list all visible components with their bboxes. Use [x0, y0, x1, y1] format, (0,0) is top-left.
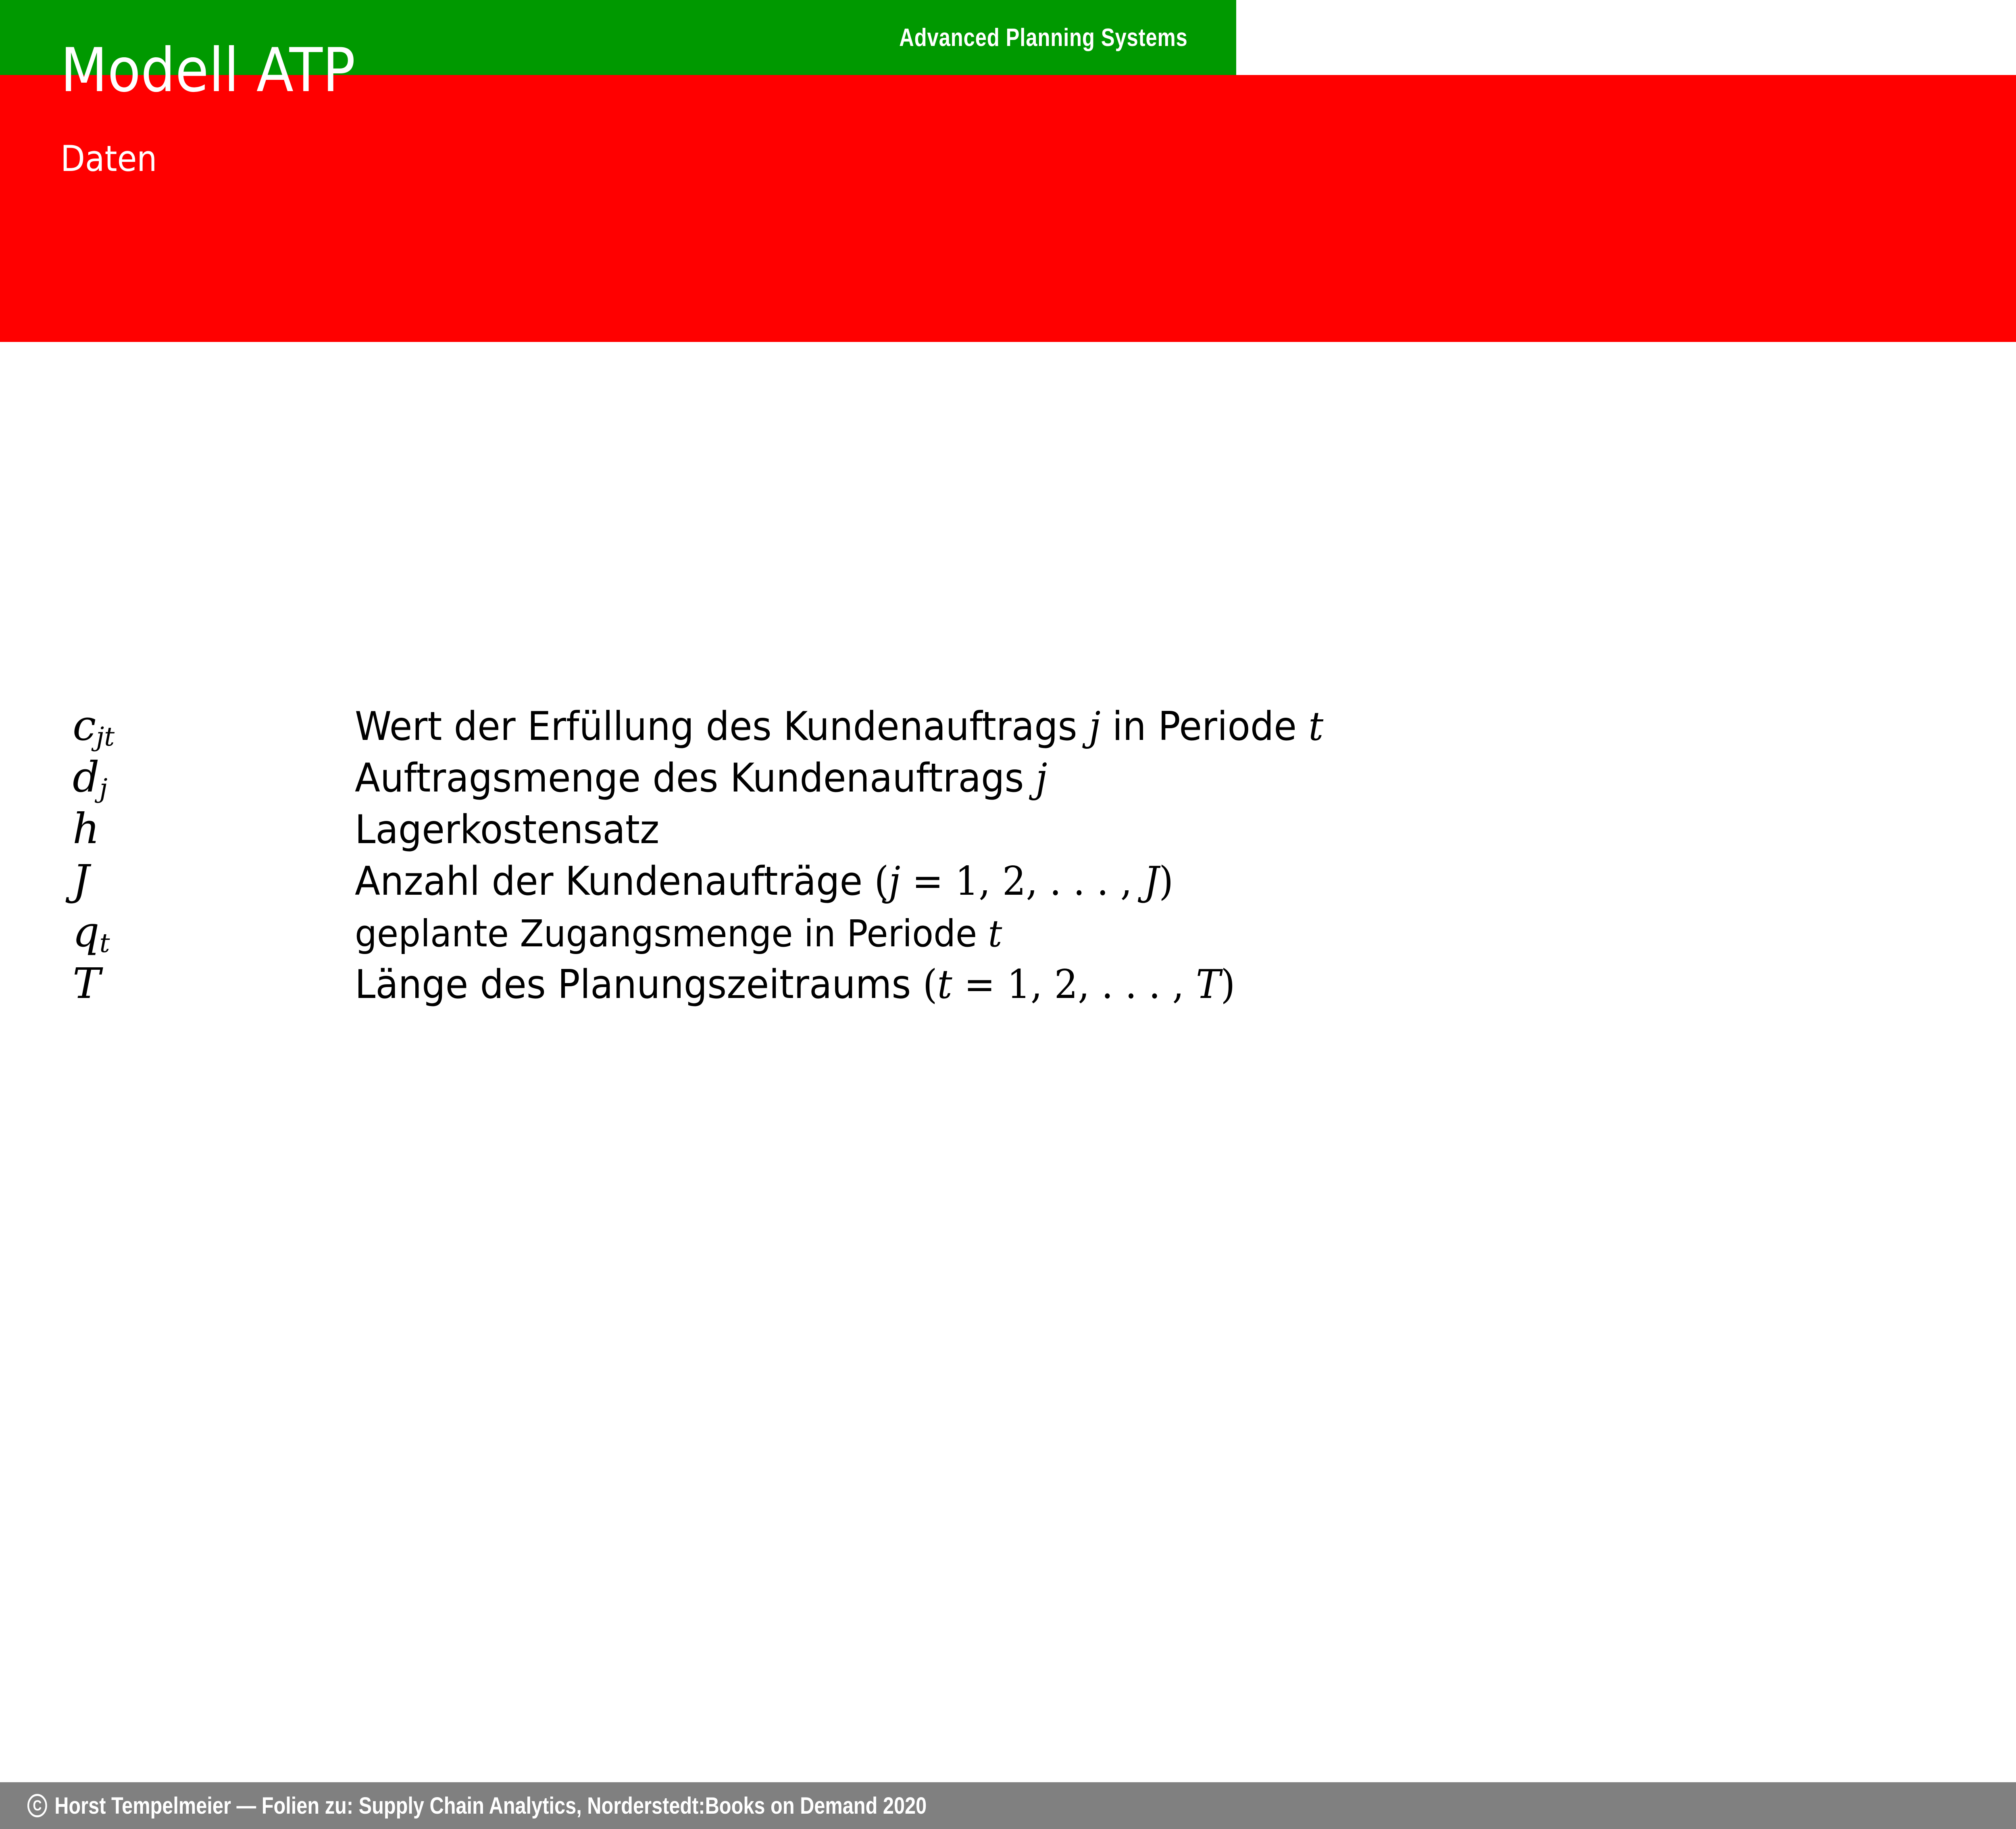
- definition-row: qtgeplante Zugangsmenge in Periode t: [73, 907, 2016, 959]
- definition-row: djAuftragsmenge des Kundenauftrags j: [73, 752, 2016, 804]
- definition-symbol: J: [73, 856, 355, 905]
- definition-symbol-subscript: jt: [96, 722, 115, 752]
- footer-credit: C Horst Tempelmeier — Folien zu: Supply …: [27, 1792, 927, 1819]
- definition-row: JAnzahl der Kundenaufträge (j = 1, 2, . …: [73, 856, 2016, 907]
- definition-row: cjtWert der Erfüllung des Kundenauftrags…: [73, 701, 2016, 752]
- footer-bar: C Horst Tempelmeier — Folien zu: Supply …: [0, 1782, 2016, 1829]
- definition-symbol: T: [73, 959, 355, 1008]
- definition-row: TLänge des Planungszeitraums (t = 1, 2, …: [73, 959, 2016, 1010]
- definition-description: Wert der Erfüllung des Kundenauftrags j …: [355, 704, 2016, 750]
- definition-description: Anzahl der Kundenaufträge (j = 1, 2, . .…: [355, 858, 2016, 904]
- definition-symbol: h: [73, 804, 355, 853]
- definition-list: cjtWert der Erfüllung des Kundenauftrags…: [73, 701, 2016, 1010]
- definition-row: hLagerkostensatz: [73, 804, 2016, 856]
- definition-description: Lagerkostensatz: [355, 807, 2016, 853]
- page-subtitle: Daten: [60, 141, 157, 177]
- definition-symbol: qt: [73, 907, 355, 958]
- definition-description: Länge des Planungszeitraums (t = 1, 2, .…: [355, 962, 2016, 1008]
- definition-symbol-subscript: j: [100, 773, 108, 804]
- copyright-icon: C: [27, 1794, 47, 1817]
- slide-title-banner: [0, 75, 2016, 342]
- presentation-section-title: Advanced Planning Systems: [899, 23, 1188, 52]
- slide-content: cjtWert der Erfüllung des Kundenauftrags…: [0, 342, 2016, 1745]
- definition-symbol: cjt: [73, 701, 355, 752]
- footer-credit-text: Horst Tempelmeier — Folien zu: Supply Ch…: [54, 1792, 927, 1819]
- definition-description: geplante Zugangsmenge in Periode t: [355, 912, 2016, 955]
- definition-symbol-subscript: t: [100, 928, 110, 958]
- definition-symbol: dj: [73, 752, 355, 804]
- page-title: Modell ATP: [60, 40, 356, 101]
- definition-description: Auftragsmenge des Kundenauftrags j: [355, 755, 2016, 801]
